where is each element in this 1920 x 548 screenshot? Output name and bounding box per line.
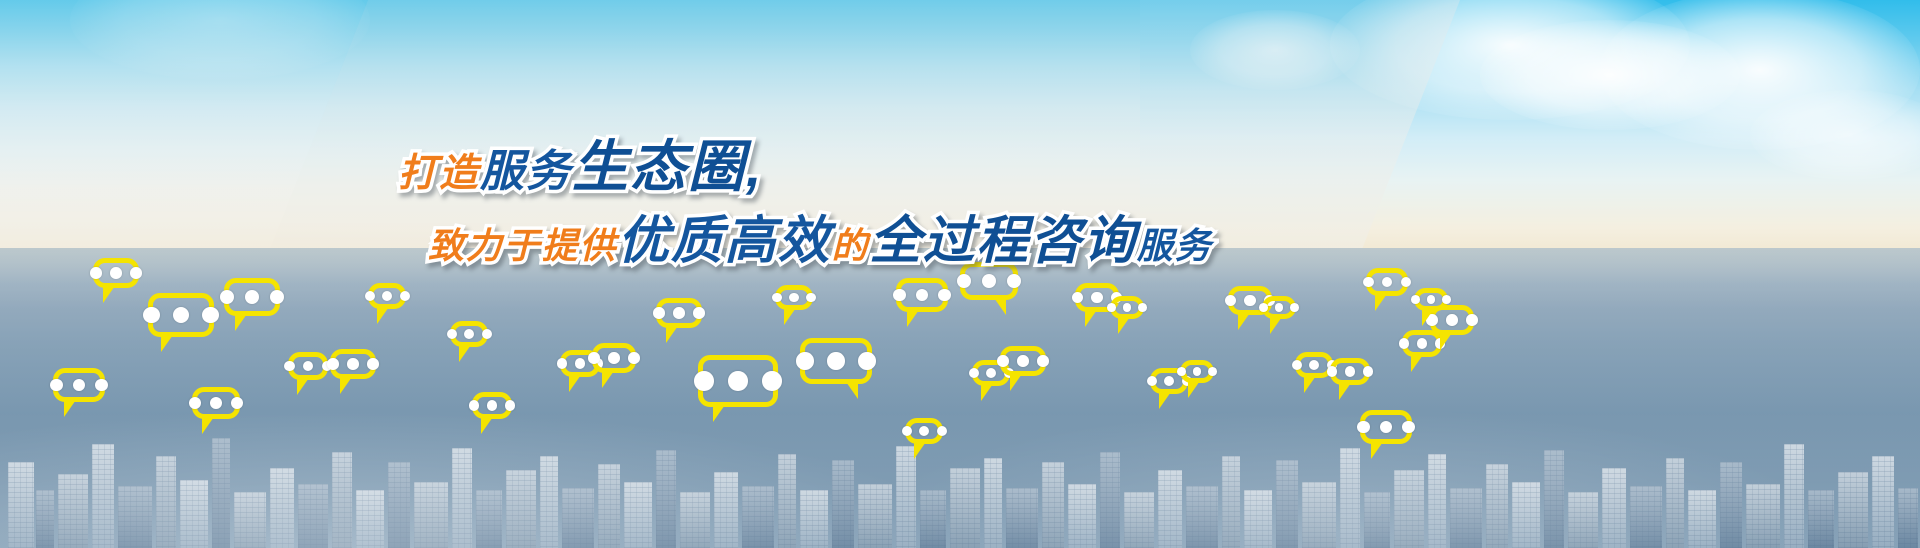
speech-bubble-icon xyxy=(330,349,376,379)
bubble-dot-icon xyxy=(1402,421,1415,434)
bubble-dot-icon xyxy=(762,371,782,391)
bubble-dot-icon xyxy=(806,293,816,303)
bubble-dot-icon xyxy=(982,274,996,288)
speech-bubble-icon xyxy=(656,298,702,328)
bubble-dot-icon xyxy=(110,267,122,279)
speech-bubble-icon xyxy=(1402,330,1442,357)
speech-bubble-icon xyxy=(224,278,280,316)
speech-bubble-icon xyxy=(698,355,778,407)
bubble-dot-icon xyxy=(694,371,714,391)
bubble-dot-icon xyxy=(608,352,620,364)
speech-bubble-icon xyxy=(192,387,240,419)
bubble-dot-icon xyxy=(796,352,814,370)
bubble-tail-icon xyxy=(1188,378,1202,398)
bubble-dot-icon xyxy=(447,329,457,339)
bubble-tail-icon xyxy=(992,295,1006,315)
bubble-dot-icon xyxy=(1417,338,1427,348)
bubble-dot-icon xyxy=(902,426,912,436)
bubble-dot-icon xyxy=(575,358,585,368)
bubble-tail-icon xyxy=(235,311,249,331)
bubble-dot-icon xyxy=(367,358,379,370)
bubble-tail-icon xyxy=(914,439,928,459)
bubble-tail-icon xyxy=(1440,330,1454,350)
bubble-tail-icon xyxy=(297,375,311,395)
bubble-tail-icon xyxy=(1085,307,1099,327)
speech-bubble-icon xyxy=(800,338,872,384)
speech-bubble-icon xyxy=(472,392,512,419)
bubble-dot-icon xyxy=(482,329,492,339)
bubble-dot-icon xyxy=(557,358,567,368)
bubble-dot-icon xyxy=(50,379,63,392)
speech-bubble-icon xyxy=(1366,268,1408,296)
bubble-dot-icon xyxy=(986,368,996,378)
bubble-dot-icon xyxy=(588,352,600,364)
bubble-dot-icon xyxy=(772,293,782,303)
bubble-dot-icon xyxy=(1123,303,1132,312)
bubble-dot-icon xyxy=(1017,355,1029,367)
bubble-dot-icon xyxy=(1037,355,1049,367)
bubble-dot-icon xyxy=(1382,277,1393,288)
speech-bubble-icon xyxy=(1180,360,1214,383)
bubble-dot-icon xyxy=(938,289,951,302)
bubble-dot-icon xyxy=(1327,366,1337,376)
bubble-dot-icon xyxy=(1380,421,1393,434)
bubble-dot-icon xyxy=(173,307,190,324)
bubble-dot-icon xyxy=(1427,295,1436,304)
bubble-tail-icon xyxy=(1238,310,1252,330)
bubble-dot-icon xyxy=(347,358,359,370)
bubble-dot-icon xyxy=(1399,338,1409,348)
bubble-tail-icon xyxy=(481,414,495,434)
bubble-dot-icon xyxy=(1164,376,1174,386)
bubble-dot-icon xyxy=(1244,295,1255,306)
bubble-tail-icon xyxy=(569,372,583,392)
city-skyline-photo xyxy=(0,248,1920,548)
bubble-dot-icon xyxy=(937,426,947,436)
speech-bubble-icon xyxy=(450,321,488,347)
bubble-tail-icon xyxy=(1411,352,1425,372)
bubble-dot-icon xyxy=(728,371,748,391)
bubble-dot-icon xyxy=(1177,367,1186,376)
speech-bubble-icon xyxy=(1262,296,1296,319)
bubble-dot-icon xyxy=(628,352,640,364)
hero-banner: 打造服务生态圈, 致力于提供优质高效的全过程咨询服务 xyxy=(0,0,1920,548)
bubble-dot-icon xyxy=(189,397,201,409)
bubble-tail-icon xyxy=(161,332,175,352)
bubble-dot-icon xyxy=(1363,366,1373,376)
bubble-tail-icon xyxy=(1339,380,1353,400)
bubble-dot-icon xyxy=(957,274,971,288)
bubble-dot-icon xyxy=(789,293,799,303)
bubble-dot-icon xyxy=(1411,295,1420,304)
city-haze-overlay xyxy=(0,248,1920,548)
speech-bubble-icon xyxy=(368,283,406,309)
bubble-dot-icon xyxy=(382,291,392,301)
bubble-dot-icon xyxy=(1193,367,1202,376)
speech-bubble-icon xyxy=(1360,410,1412,444)
speech-bubble-icon xyxy=(1110,296,1144,319)
speech-bubble-icon xyxy=(905,418,943,444)
speech-bubble-icon xyxy=(93,258,139,288)
bubble-dot-icon xyxy=(73,379,86,392)
bubble-dot-icon xyxy=(1138,303,1147,312)
bubble-dot-icon xyxy=(220,290,234,304)
bubble-dot-icon xyxy=(673,307,685,319)
bubble-dot-icon xyxy=(1442,295,1451,304)
bubble-dot-icon xyxy=(1290,303,1299,312)
bubble-dot-icon xyxy=(464,329,474,339)
bubble-dot-icon xyxy=(1225,295,1236,306)
bubble-dot-icon xyxy=(1466,314,1478,326)
bubble-dot-icon xyxy=(1357,421,1370,434)
bubble-tail-icon xyxy=(1371,439,1385,459)
bubble-tail-icon xyxy=(1270,314,1284,334)
bubble-dot-icon xyxy=(469,400,479,410)
bubble-tail-icon xyxy=(64,397,78,417)
bubble-dot-icon xyxy=(1107,303,1116,312)
bubble-dot-icon xyxy=(1208,367,1217,376)
bubble-dot-icon xyxy=(245,290,259,304)
bubble-dot-icon xyxy=(1275,303,1284,312)
bubble-dot-icon xyxy=(303,361,314,372)
bubble-tail-icon xyxy=(907,307,921,327)
bubble-dot-icon xyxy=(1091,292,1102,303)
speech-bubble-icon xyxy=(53,368,105,402)
bubble-dot-icon xyxy=(1259,303,1268,312)
bubble-dot-icon xyxy=(997,355,1009,367)
bubble-dot-icon xyxy=(893,289,906,302)
bubble-dot-icon xyxy=(284,361,295,372)
bubble-tail-icon xyxy=(1304,373,1318,393)
speech-bubble-icon xyxy=(775,285,813,310)
bubble-dot-icon xyxy=(210,397,222,409)
bubble-tail-icon xyxy=(713,402,727,422)
bubble-dot-icon xyxy=(969,368,979,378)
bubble-dot-icon xyxy=(693,307,705,319)
bubble-tail-icon xyxy=(103,283,117,303)
bubble-dot-icon xyxy=(327,358,339,370)
speech-bubble-icon xyxy=(1414,288,1448,311)
bubble-dot-icon xyxy=(202,307,219,324)
bubble-dot-icon xyxy=(1147,376,1157,386)
bubble-tail-icon xyxy=(340,374,354,394)
bubble-tail-icon xyxy=(784,305,798,325)
bubble-tail-icon xyxy=(1159,389,1173,409)
bubble-tail-icon xyxy=(602,368,616,388)
bubble-dot-icon xyxy=(1363,277,1374,288)
bubble-tail-icon xyxy=(1422,306,1436,326)
bubble-dot-icon xyxy=(95,379,108,392)
bubble-tail-icon xyxy=(377,304,391,324)
speech-bubble-icon xyxy=(288,352,328,380)
bubble-dot-icon xyxy=(653,307,665,319)
speech-bubble-icon xyxy=(148,293,214,337)
bubble-dot-icon xyxy=(130,267,142,279)
bubble-dot-icon xyxy=(231,397,243,409)
bubble-dot-icon xyxy=(1292,360,1302,370)
bubble-tail-icon xyxy=(202,414,216,434)
bubble-tail-icon xyxy=(666,323,680,343)
bubble-dot-icon xyxy=(1072,292,1083,303)
bubble-dot-icon xyxy=(858,352,876,370)
speech-bubble-icon xyxy=(592,343,636,373)
bubble-tail-icon xyxy=(1118,314,1132,334)
bubble-dot-icon xyxy=(827,352,845,370)
speech-bubble-icon xyxy=(896,278,948,312)
bubble-tail-icon xyxy=(844,379,858,399)
bubble-dot-icon xyxy=(90,267,102,279)
speech-bubble-icon xyxy=(960,262,1018,300)
speech-bubble-icon xyxy=(1000,346,1046,376)
bubble-tail-icon xyxy=(1010,371,1024,391)
bubble-dot-icon xyxy=(916,289,929,302)
bubble-dot-icon xyxy=(1309,360,1319,370)
bubble-dot-icon xyxy=(400,291,410,301)
bubble-dot-icon xyxy=(1446,314,1458,326)
bubble-tail-icon xyxy=(459,342,473,362)
bubble-tail-icon xyxy=(1375,291,1389,311)
bubble-dot-icon xyxy=(487,400,497,410)
bubble-dot-icon xyxy=(919,426,929,436)
bubble-dot-icon xyxy=(143,307,160,324)
bubble-dot-icon xyxy=(365,291,375,301)
speech-bubble-icon xyxy=(1330,358,1370,385)
bubble-tail-icon xyxy=(981,381,995,401)
bubble-dot-icon xyxy=(1345,366,1355,376)
bubble-dot-icon xyxy=(505,400,515,410)
